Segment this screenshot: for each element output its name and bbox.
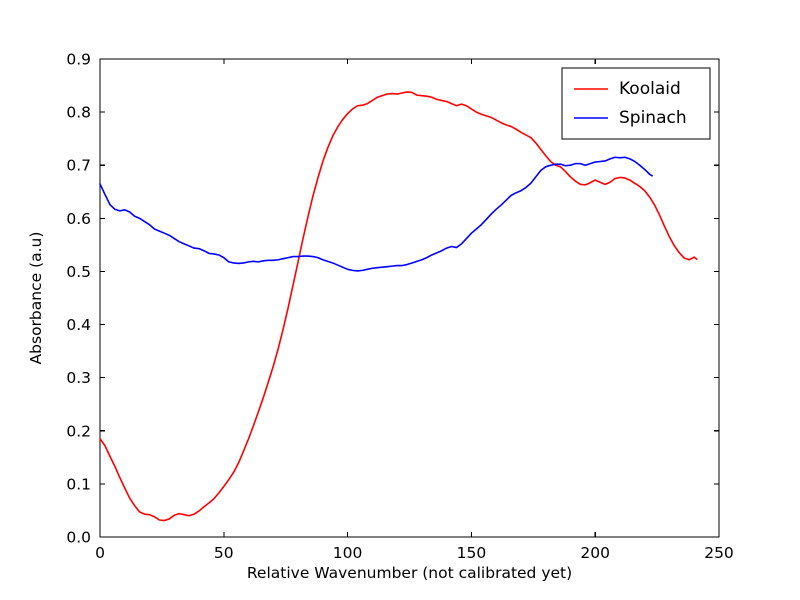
x-tick-label: 200	[580, 544, 610, 562]
x-tick-label: 100	[333, 544, 363, 562]
y-tick-label: 0.4	[66, 316, 91, 334]
y-tick-label: 0.3	[66, 369, 91, 387]
x-tick-label: 150	[457, 544, 487, 562]
series-line-koolaid	[100, 92, 697, 521]
legend-label-spinach: Spinach	[619, 108, 687, 128]
y-tick-label: 0.5	[66, 263, 91, 281]
x-axis-title: Relative Wavenumber (not calibrated yet)	[247, 564, 572, 582]
y-tick-label: 0.9	[66, 51, 91, 69]
matplotlib-figure: 0.00.10.20.30.40.50.60.70.80.9 050100150…	[0, 0, 800, 600]
series-line-spinach	[100, 157, 652, 271]
legend-label-koolaid: Koolaid	[619, 79, 681, 99]
legend[interactable]: KoolaidSpinach	[562, 68, 710, 139]
y-tick-label: 0.8	[66, 104, 91, 122]
y-tick-label: 0.1	[66, 475, 91, 493]
y-axis-title: Absorbance (a.u)	[27, 232, 45, 365]
plot-canvas: 0.00.10.20.30.40.50.60.70.80.9 050100150…	[0, 0, 800, 600]
x-tick-label: 50	[214, 544, 234, 562]
y-tick-label: 0.6	[66, 210, 91, 228]
series-layer	[100, 92, 697, 521]
x-tick-label: 250	[704, 544, 734, 562]
y-tick-label: 0.7	[66, 157, 91, 175]
y-tick-label: 0.2	[66, 422, 91, 440]
y-tick-label: 0.0	[66, 529, 91, 547]
x-tick-label: 0	[95, 544, 105, 562]
